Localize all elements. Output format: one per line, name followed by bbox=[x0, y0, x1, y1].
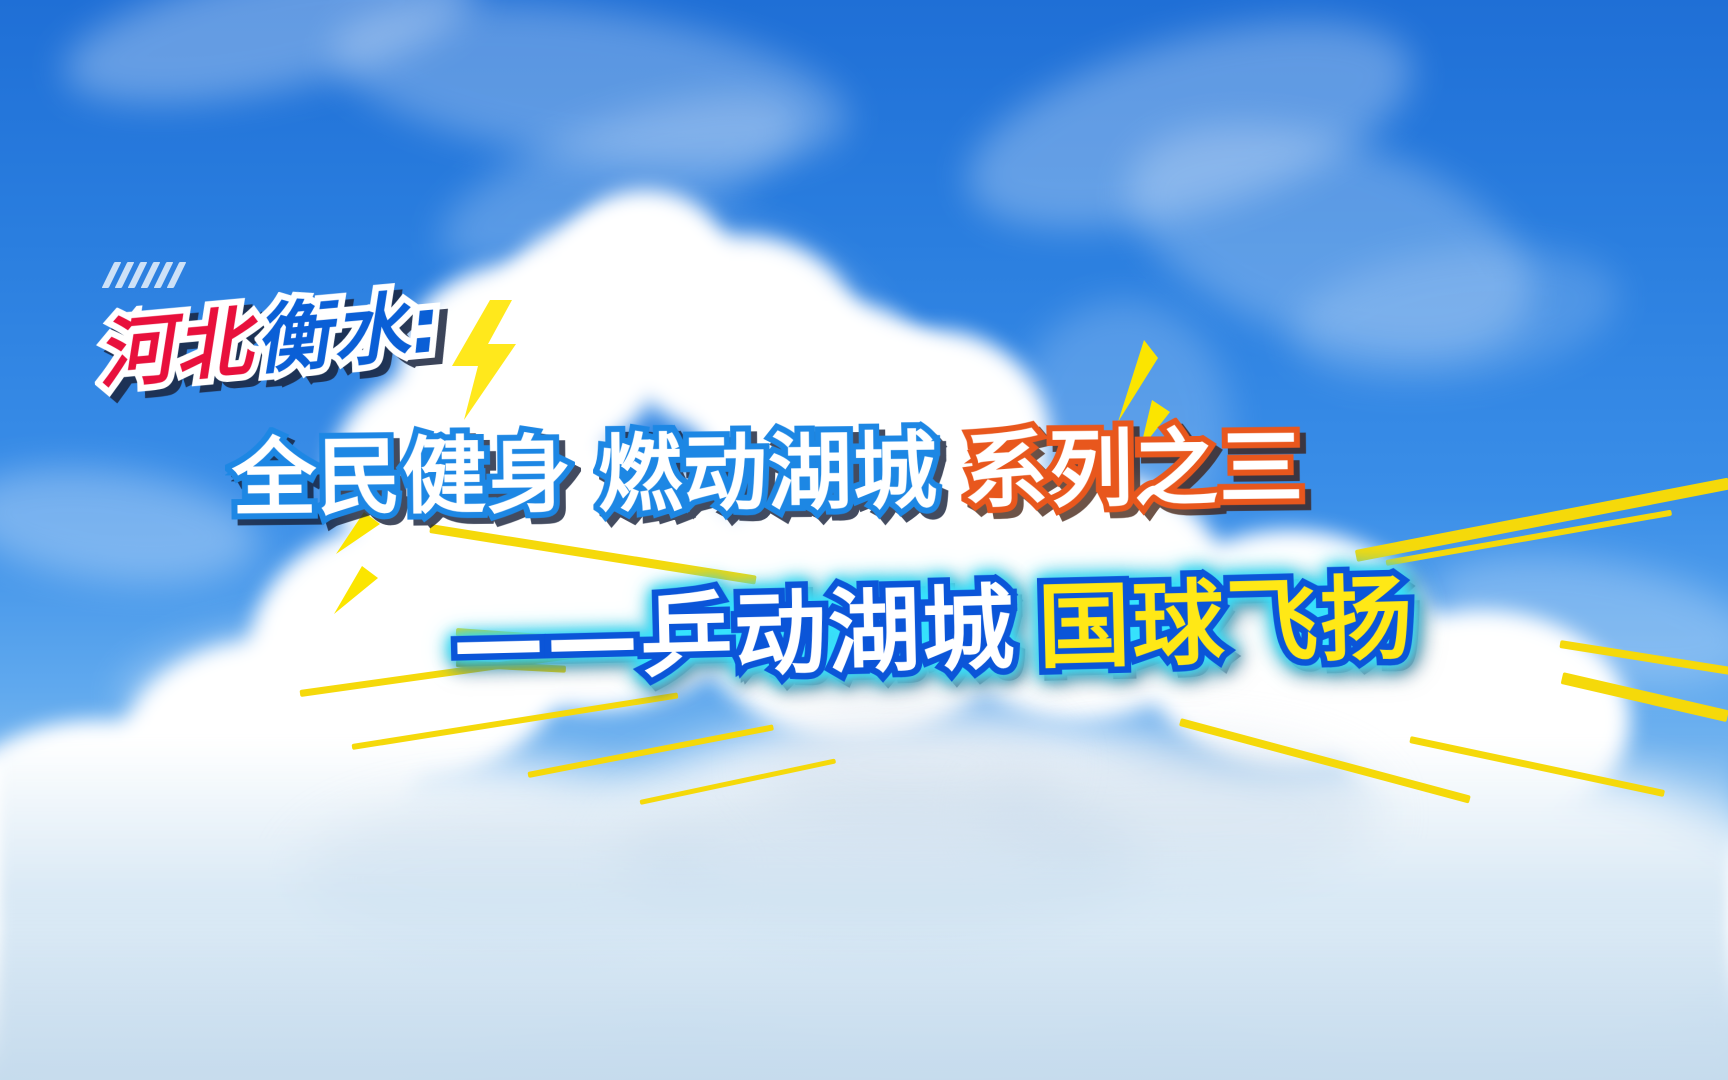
title-campaign-b: 燃动湖城 bbox=[597, 404, 938, 529]
title-line-2: 全民健身 燃动湖城 系列之三 bbox=[231, 400, 1304, 532]
title-text-block: 河北 衡水: 全民健身 燃动湖城 系列之三 ——乒动湖城 国球飞扬 bbox=[0, 0, 1728, 1080]
title-line-3: ——乒动湖城 国球飞扬 bbox=[451, 544, 1416, 700]
title-province: 河北 bbox=[92, 280, 257, 404]
title-line-1: 河北 衡水: bbox=[92, 263, 447, 404]
title-series-number: 系列之三 bbox=[963, 400, 1304, 525]
title-subtitle-a: ——乒动湖城 bbox=[451, 554, 1018, 701]
title-subtitle-b: 国球飞扬 bbox=[1036, 544, 1415, 686]
title-campaign-a: 全民健身 bbox=[231, 408, 572, 533]
title-card: 河北 衡水: 全民健身 燃动湖城 系列之三 ——乒动湖城 国球飞扬 bbox=[0, 0, 1728, 1080]
title-city: 衡水: bbox=[249, 263, 447, 390]
